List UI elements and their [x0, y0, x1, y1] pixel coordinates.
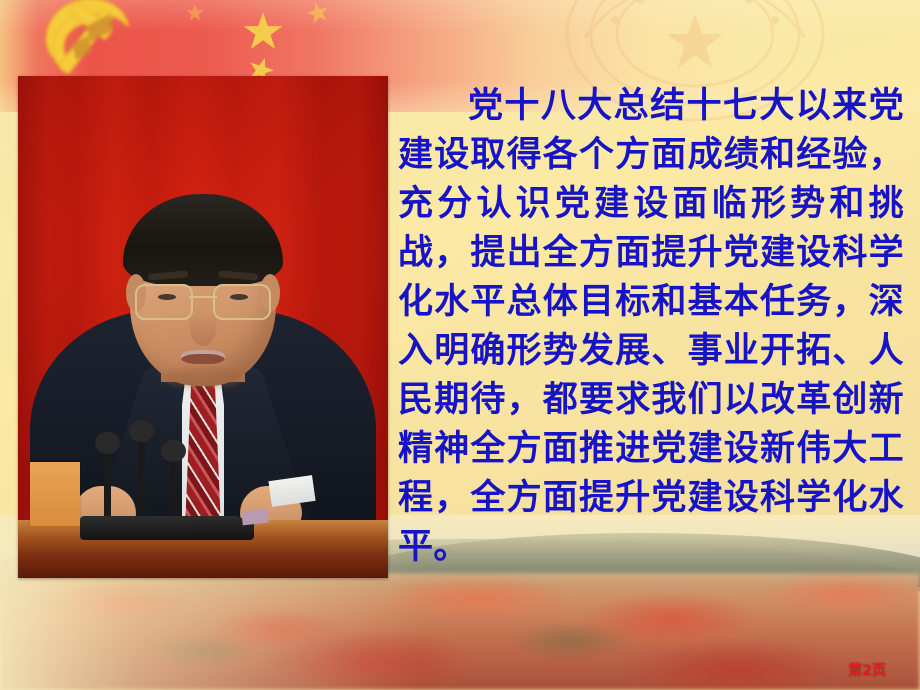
page-number-label: 第2页 — [848, 660, 886, 680]
photo-lens-right — [213, 284, 271, 320]
photo-nameplate — [30, 462, 80, 526]
presentation-slide: 党十八大总结十七大以来党建设取得各个方面成绩和经验，充分认识党建设面临形势和挑战… — [0, 0, 920, 690]
photo-chin-shadow — [163, 368, 243, 388]
photo-mouth — [181, 350, 225, 364]
official-portrait-photo — [18, 76, 388, 578]
photo-nose — [190, 312, 216, 346]
photo-held-card — [241, 509, 268, 526]
slide-body-text: 党十八大总结十七大以来党建设取得各个方面成绩和经验，充分认识党建设面临形势和挑战… — [398, 82, 904, 572]
photo-lens-left — [135, 284, 193, 320]
